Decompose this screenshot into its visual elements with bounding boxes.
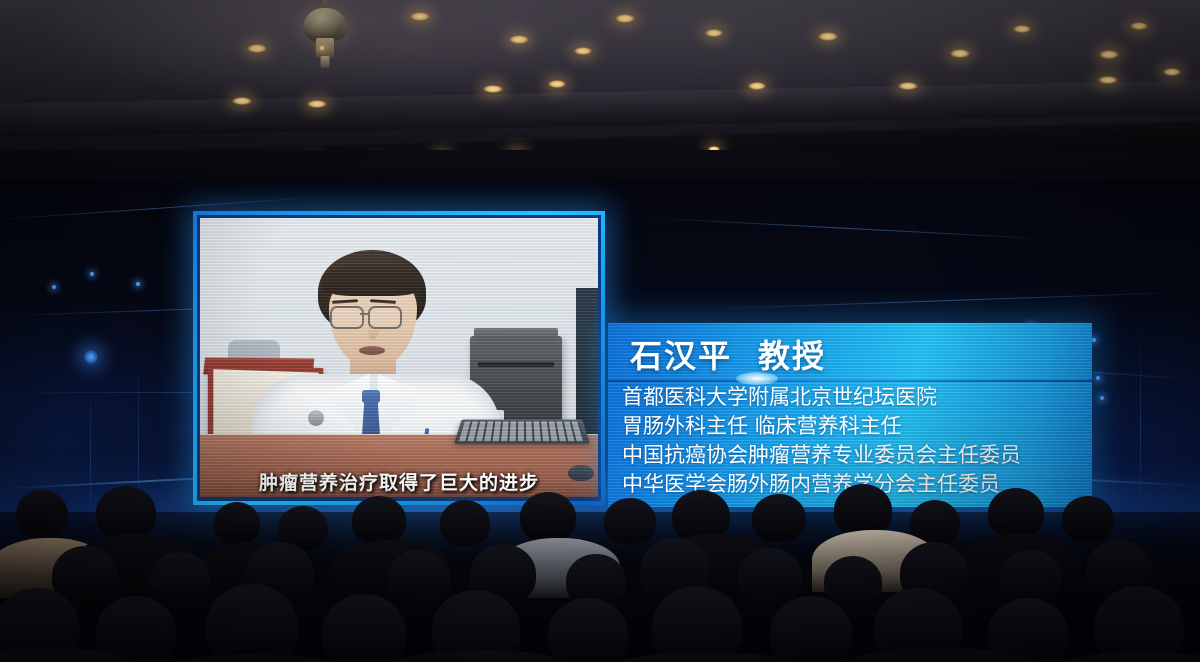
audience-head <box>322 594 406 662</box>
audience-head <box>96 486 156 540</box>
chandelier-small <box>290 0 360 70</box>
audience-head <box>440 500 490 546</box>
speaker-name: 石汉平 <box>630 337 732 375</box>
credential-line: 首都医科大学附属北京世纪坛医院 <box>622 383 1092 412</box>
keyboard-keys <box>459 422 585 442</box>
audience-head <box>752 494 806 542</box>
ceiling-downlight <box>232 97 252 105</box>
audience-head <box>824 556 882 608</box>
audience-head <box>604 498 656 544</box>
conference-hall-photo: 石汉平 <box>0 0 1200 662</box>
ceiling-downlight <box>574 47 592 55</box>
computer-keyboard <box>454 419 590 444</box>
credential-line: 胃肠外科主任 临床营养科主任 <box>622 412 1092 441</box>
audience-head <box>388 550 450 606</box>
backdrop-node-dot <box>1092 338 1096 342</box>
ceiling-downlight <box>615 14 635 23</box>
backdrop-glow-dot <box>84 350 98 364</box>
speaker-academic-title: 教授 <box>758 337 826 375</box>
audience-head <box>520 492 576 542</box>
speaker-fringe <box>321 264 423 296</box>
ceiling-downlight <box>1099 50 1119 59</box>
speaker-name-title: 石汉平教授 <box>630 331 826 377</box>
backdrop-node-dot <box>52 285 56 289</box>
speaker-nose <box>368 324 378 340</box>
ceiling-downlight <box>705 29 723 37</box>
backdrop-node-dot <box>90 272 94 276</box>
ceiling-downlight <box>1013 25 1031 33</box>
audience-head <box>1062 496 1114 542</box>
speaker-glasses-lens <box>330 306 364 329</box>
audience-head <box>16 490 68 538</box>
audience-head <box>548 598 628 662</box>
ceiling-downlight <box>548 80 566 88</box>
audience-head <box>206 584 298 662</box>
speaker-mouth <box>359 346 385 355</box>
audience-head <box>770 596 852 662</box>
ceiling-downlight <box>818 32 838 41</box>
backdrop-node-dot <box>1100 396 1104 400</box>
ceiling-downlight <box>1098 76 1118 84</box>
ceiling-downlight <box>1130 22 1148 30</box>
monitor-edge <box>576 288 598 438</box>
audience-head <box>150 552 210 606</box>
ceiling-downlight <box>748 82 766 90</box>
audience-head <box>352 496 406 544</box>
ceiling-downlight <box>247 44 267 53</box>
ceiling-downlight <box>483 85 503 93</box>
video-playback-area: 石汉平 <box>200 218 598 497</box>
ceiling-downlight <box>509 35 529 44</box>
audience-head <box>834 484 892 536</box>
ceiling-downlight <box>410 12 430 21</box>
stethoscope-head <box>308 410 324 426</box>
audience-head <box>988 488 1044 538</box>
backdrop-network-line <box>640 217 1059 240</box>
backdrop-network-line <box>700 291 1200 309</box>
ceiling-downlight <box>1163 68 1181 76</box>
speaker-glasses-bridge <box>360 313 370 315</box>
ceiling-downlight <box>898 82 918 90</box>
backdrop-node-dot <box>1096 376 1100 380</box>
ceiling-downlight <box>950 49 970 58</box>
audience-head <box>652 586 742 662</box>
lower-third-divider <box>608 380 1092 382</box>
backdrop-node-dot <box>136 282 140 286</box>
ceiling-downlight <box>307 100 327 108</box>
audience-head <box>738 548 802 606</box>
audience-head <box>1094 586 1184 662</box>
audience-head <box>214 502 260 544</box>
credential-line: 中国抗癌协会肿瘤营养专业委员会主任委员 <box>622 441 1092 470</box>
audience <box>0 472 1200 662</box>
